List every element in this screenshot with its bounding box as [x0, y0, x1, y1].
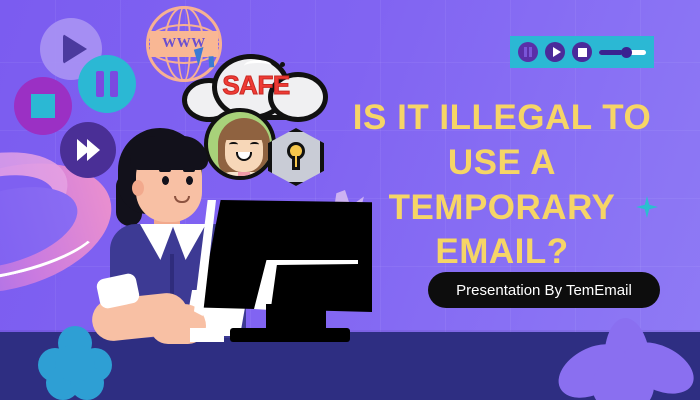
- flower-shape: [38, 326, 112, 396]
- pause-button[interactable]: [518, 42, 538, 62]
- title-line-1: IS IT ILLEGAL TO: [336, 96, 668, 141]
- presentation-credit-label: Presentation By TemEmail: [456, 282, 632, 299]
- play-button[interactable]: [545, 42, 565, 62]
- title-line-3: EMAIL?: [336, 230, 668, 275]
- media-control-bar[interactable]: [510, 36, 654, 68]
- slider-knob[interactable]: [621, 47, 632, 58]
- presentation-credit-badge: Presentation By TemEmail: [428, 272, 660, 308]
- safe-label: SAFE: [182, 70, 330, 101]
- leaf-shape: [556, 314, 700, 400]
- stop-icon[interactable]: [14, 77, 72, 135]
- volume-slider[interactable]: [599, 50, 646, 55]
- slider-fill: [599, 50, 623, 55]
- title-line-2: USE A TEMPORARY: [336, 141, 668, 231]
- page-title: IS IT ILLEGAL TO USE A TEMPORARY EMAIL?: [336, 96, 668, 275]
- shield-lock-icon: [268, 128, 324, 186]
- pause-icon[interactable]: [78, 55, 136, 113]
- stop-button[interactable]: [572, 42, 592, 62]
- presentation-slide: WWW SAFE: [0, 0, 700, 400]
